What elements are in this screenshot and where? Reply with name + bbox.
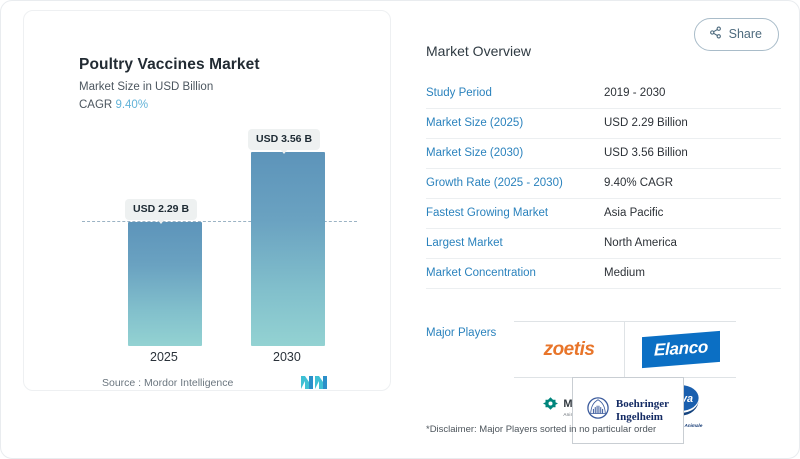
boehringer-ingelheim-mark-icon xyxy=(587,397,609,424)
player-logo-zoetis: zoetis xyxy=(514,322,625,378)
zoetis-logo: zoetis xyxy=(544,339,595,361)
table-row: Market Concentration Medium xyxy=(426,259,781,289)
player-logo-elanco: Elanco xyxy=(625,322,736,378)
major-players-label: Major Players xyxy=(426,327,496,339)
mordor-intelligence-logo xyxy=(301,375,327,390)
row-key: Study Period xyxy=(426,79,604,109)
chart-card: Poultry Vaccines Market Market Size in U… xyxy=(23,10,391,391)
row-value: 2019 - 2030 xyxy=(604,79,781,109)
overview-table: Study Period 2019 - 2030 Market Size (20… xyxy=(426,79,781,289)
row-value: North America xyxy=(604,229,781,259)
bar-label-2030: USD 3.56 B xyxy=(248,129,320,150)
table-row: Study Period 2019 - 2030 xyxy=(426,79,781,109)
table-row: Market Size (2025) USD 2.29 Billion xyxy=(426,109,781,139)
row-value: Asia Pacific xyxy=(604,199,781,229)
table-row: Largest Market North America xyxy=(426,229,781,259)
row-value: 9.40% CAGR xyxy=(604,169,781,199)
row-key: Growth Rate (2025 - 2030) xyxy=(426,169,604,199)
bi-logo-line1: Boehringer xyxy=(616,398,669,411)
bi-logo-line2: Ingelheim xyxy=(616,411,669,424)
bar-2030[interactable] xyxy=(251,152,325,346)
table-row: Growth Rate (2025 - 2030) 9.40% CAGR xyxy=(426,169,781,199)
panel-title: Market Overview xyxy=(426,43,781,59)
market-overview-page: Share Poultry Vaccines Market Market Siz… xyxy=(0,0,800,459)
market-overview-panel: Market Overview Study Period 2019 - 2030… xyxy=(426,43,781,289)
x-tick-2025: 2025 xyxy=(150,350,178,364)
row-key: Market Size (2030) xyxy=(426,139,604,169)
share-label: Share xyxy=(729,27,762,41)
row-key: Market Concentration xyxy=(426,259,604,289)
row-value: USD 2.29 Billion xyxy=(604,109,781,139)
bar-chart-plot: USD 2.29 B USD 3.56 B 2025 2030 xyxy=(24,11,392,392)
source-text: Source : Mordor Intelligence xyxy=(102,377,233,389)
elanco-logo: Elanco xyxy=(642,331,720,368)
bar-label-2025: USD 2.29 B xyxy=(125,199,197,220)
share-nodes-icon xyxy=(709,26,722,42)
msd-mark-icon xyxy=(543,396,558,416)
elanco-logo-text: Elanco xyxy=(654,337,708,360)
row-value: USD 3.56 Billion xyxy=(604,139,781,169)
table-row: Fastest Growing Market Asia Pacific xyxy=(426,199,781,229)
disclaimer-text: *Disclaimer: Major Players sorted in no … xyxy=(426,424,656,435)
row-key: Fastest Growing Market xyxy=(426,199,604,229)
row-key: Largest Market xyxy=(426,229,604,259)
row-key: Market Size (2025) xyxy=(426,109,604,139)
x-tick-2030: 2030 xyxy=(273,350,301,364)
table-row: Market Size (2030) USD 3.56 Billion xyxy=(426,139,781,169)
row-value: Medium xyxy=(604,259,781,289)
bar-2025[interactable] xyxy=(128,222,202,346)
